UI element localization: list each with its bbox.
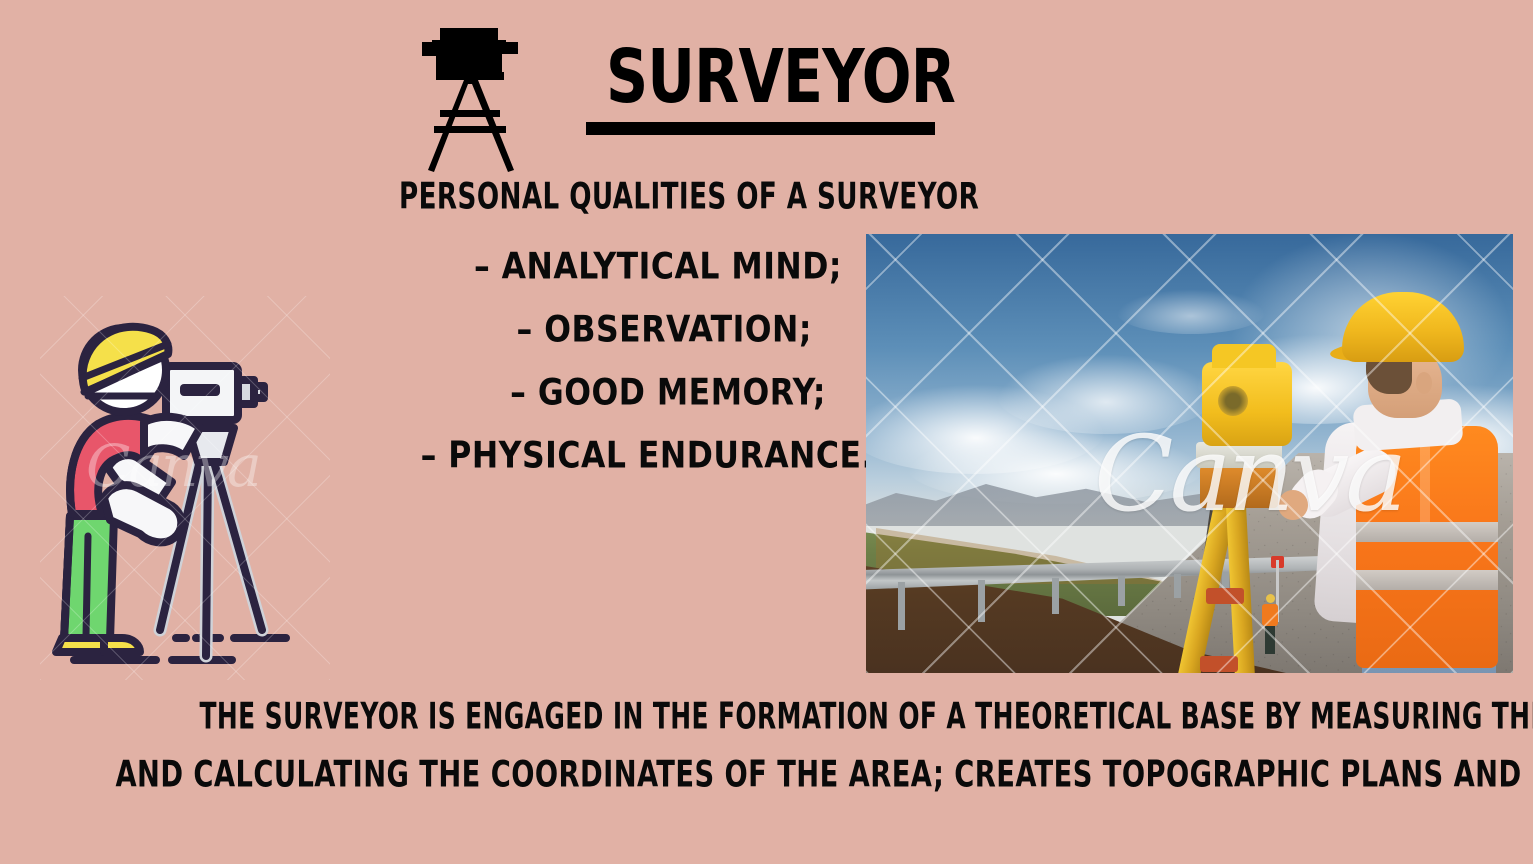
description-paragraph: THE SURVEYOR IS ENGAGED IN THE FORMATION… — [0, 688, 1533, 804]
surveyor-person — [1244, 274, 1513, 673]
yellow-hard-hat — [1342, 292, 1464, 362]
guardrail-post — [978, 580, 985, 622]
tripod-clamp — [1200, 656, 1238, 672]
slide-canvas: SURVEYOR PERSONAL QUALITIES OF A SURVEYO… — [0, 0, 1533, 864]
cloud — [906, 429, 1206, 504]
theodolite-tripod-icon — [414, 22, 530, 174]
surveyor-on-road-photo: Canva — [866, 234, 1513, 673]
list-item: – ANALYTICAL MIND; — [0, 235, 878, 301]
title-underline — [586, 122, 935, 135]
guardrail-post — [898, 582, 905, 630]
flat-surveyor-illustration — [48, 300, 320, 672]
vest-seam — [1420, 438, 1430, 524]
qualities-heading: PERSONAL QUALITIES OF A SURVEYOR — [399, 176, 979, 218]
vest-reflective-stripe — [1356, 522, 1498, 542]
vest-reflective-stripe — [1356, 570, 1498, 590]
page-title: SURVEYOR — [606, 34, 955, 120]
title-block: SURVEYOR — [560, 34, 960, 135]
guardrail-post — [1052, 578, 1059, 614]
guardrail-post — [1118, 576, 1125, 606]
hand — [1278, 490, 1308, 520]
ear — [1416, 372, 1432, 394]
description-line-1: THE SURVEYOR IS ENGAGED IN THE FORMATION… — [199, 687, 1533, 748]
description-line-2: AND CALCULATING THE COORDINATES OF THE A… — [115, 745, 1533, 806]
tripod-clamp — [1206, 588, 1244, 604]
